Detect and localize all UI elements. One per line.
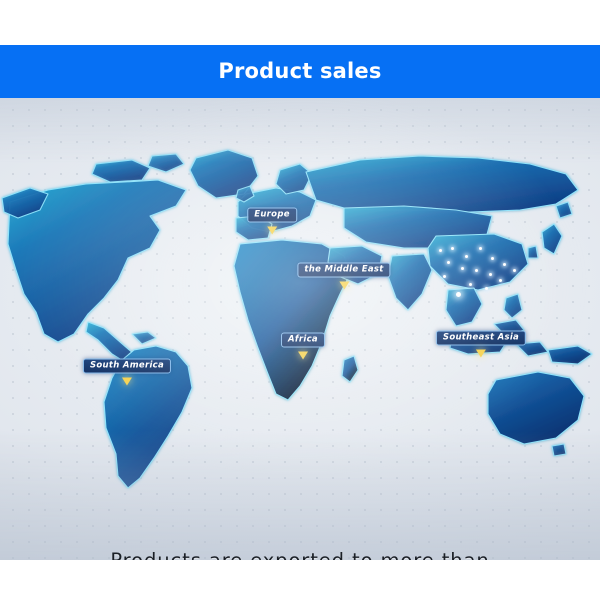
city-glow-dot <box>465 255 468 258</box>
product-sales-banner: Product sales <box>0 0 600 600</box>
city-glow-dot <box>489 273 492 276</box>
city-glow-dot <box>485 287 488 290</box>
region-marker-africa[interactable]: Africa <box>281 329 325 348</box>
city-glow-dot <box>503 263 506 266</box>
location-pin-icon <box>122 377 132 385</box>
region-label-middle-east: the Middle East <box>297 263 390 278</box>
location-pin-icon <box>339 281 349 289</box>
city-glow-dot <box>439 249 442 252</box>
city-glow-dot <box>479 247 482 250</box>
bottom-white-gap <box>0 560 600 600</box>
city-glow-dot <box>513 269 516 272</box>
caption-headline: Products are exported to more than <box>0 550 600 560</box>
city-glow-dot <box>469 283 472 286</box>
region-marker-south-america[interactable]: South America <box>83 355 171 374</box>
region-label-africa: Africa <box>281 333 325 348</box>
header-bar: Product sales <box>0 45 600 98</box>
region-label-europe: Europe <box>247 208 297 223</box>
city-glow-dot <box>451 247 454 250</box>
city-glow-dot <box>461 267 464 270</box>
world-map-panel: Europe the Middle East Africa Southeast … <box>0 98 600 560</box>
city-glow-dot <box>443 275 446 278</box>
city-glow-dot <box>491 257 494 260</box>
location-pin-icon <box>476 349 486 357</box>
region-marker-europe[interactable]: Europe <box>247 204 297 223</box>
city-glow-dot <box>447 261 450 264</box>
region-marker-southeast-asia[interactable]: Southeast Asia <box>436 327 526 346</box>
top-white-gap <box>0 0 600 45</box>
city-glow-dot <box>475 269 478 272</box>
region-label-southeast-asia: Southeast Asia <box>436 331 526 346</box>
city-glow-dot <box>499 279 502 282</box>
location-pin-icon <box>267 226 277 234</box>
region-marker-middle-east[interactable]: the Middle East <box>297 259 390 278</box>
page-title: Product sales <box>218 61 381 82</box>
location-pin-icon <box>298 351 308 359</box>
region-label-south-america: South America <box>83 359 171 374</box>
city-glow-dot-major <box>456 292 461 297</box>
caption-block: Products are exported to more than 130 c… <box>0 550 600 560</box>
